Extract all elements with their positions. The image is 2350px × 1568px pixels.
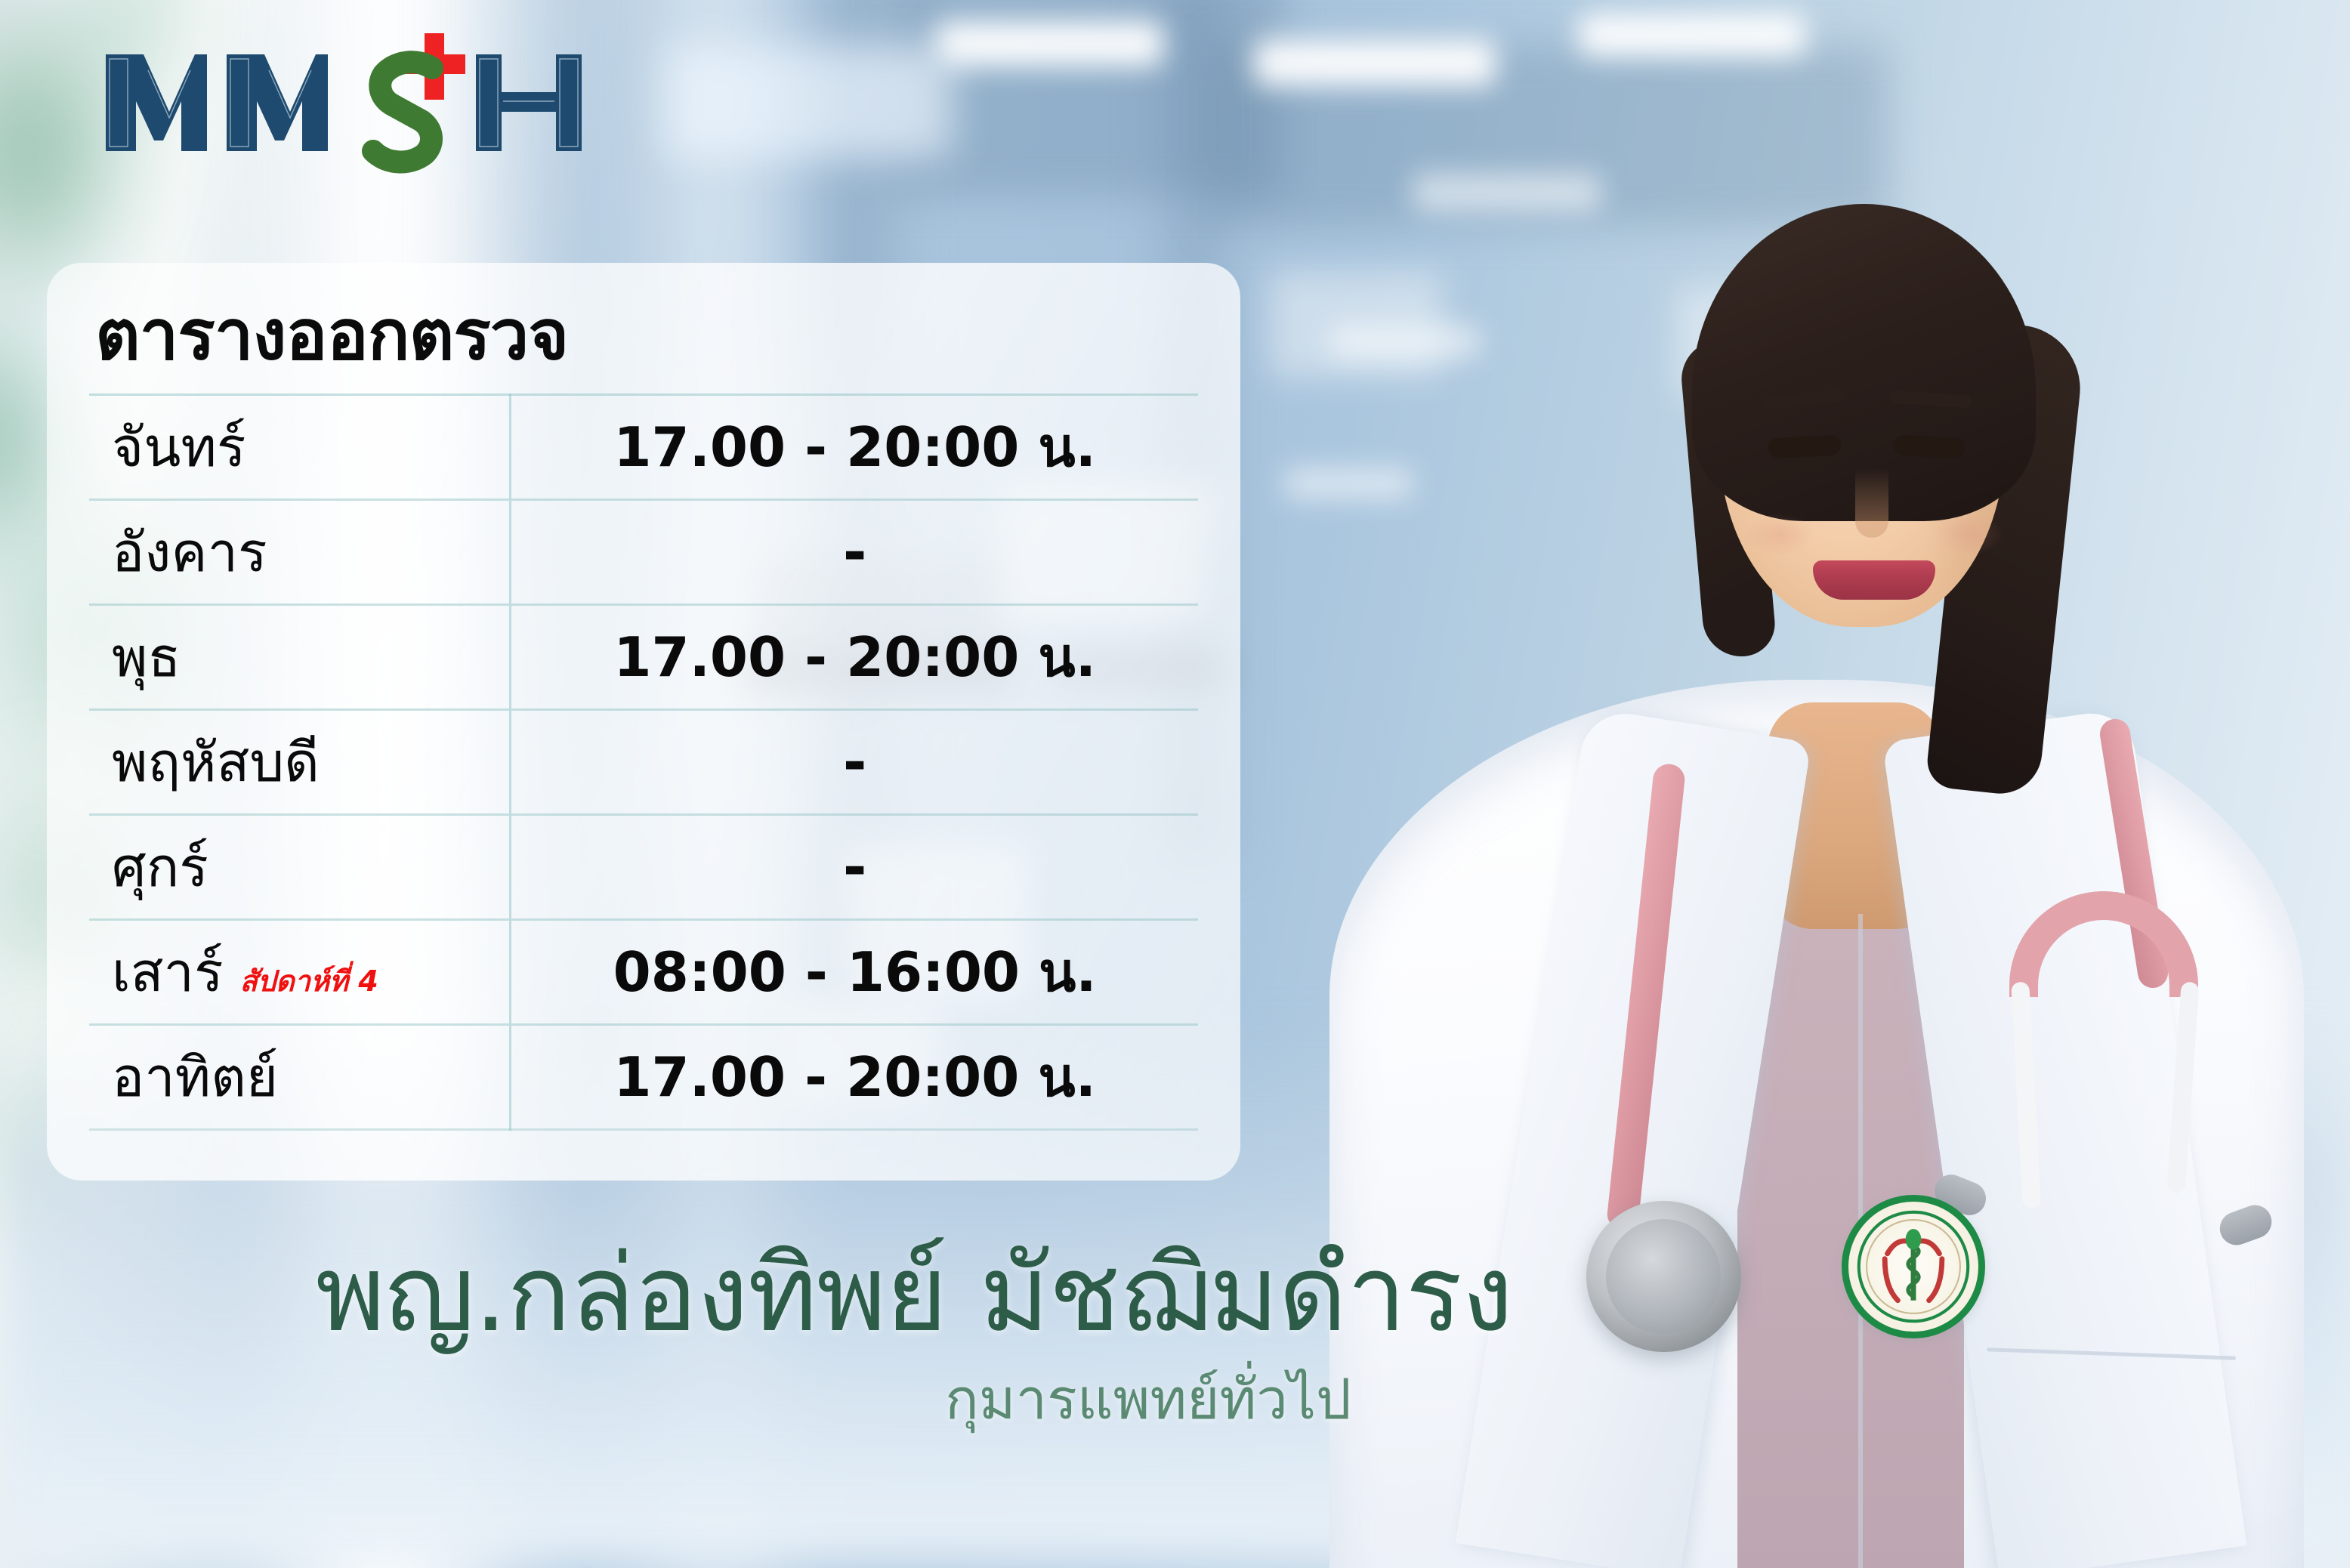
day-cell: อังคาร (89, 500, 511, 605)
table-row[interactable]: พฤหัสบดี - (89, 710, 1198, 815)
time-label: 17.00 - 20:00 น. (613, 1045, 1096, 1109)
day-cell: พฤหัสบดี (89, 710, 511, 815)
eye-right (1892, 435, 1966, 459)
day-cell: เสาร์ สัปดาห์ที่ 4 (89, 920, 511, 1025)
time-cell: - (511, 710, 1198, 815)
time-label: - (843, 518, 867, 585)
day-label: เสาร์ (112, 945, 224, 999)
eye-left (1768, 435, 1841, 459)
logo-letter-m1 (106, 54, 207, 151)
doctor-name: พญ.กล่องทิพย์ มัชฌิมดำรง (0, 1239, 1828, 1350)
day-label: ศุกร์ (112, 840, 208, 894)
nose (1855, 468, 1888, 538)
schedule-table: จันทร์ 17.00 - 20:00 น. อังคาร (89, 394, 1198, 1131)
medical-emblem-icon (1842, 1195, 1985, 1338)
day-label: จันทร์ (112, 420, 246, 474)
day-label: พฤหัสบดี (112, 735, 320, 789)
time-label: - (843, 833, 867, 900)
time-cell: 17.00 - 20:00 น. (511, 605, 1198, 710)
ceiling-light-icon (937, 21, 1163, 66)
logo-letter-m2 (227, 54, 328, 151)
time-cell: 08:00 - 16:00 น. (511, 920, 1198, 1025)
table-row[interactable]: ศุกร์ - (89, 815, 1198, 920)
time-label: - (843, 728, 867, 795)
time-cell: - (511, 500, 1198, 605)
doctor-name-block: พญ.กล่องทิพย์ มัชฌิมดำรง กุมารแพทย์ทั่วไ… (0, 1239, 1828, 1431)
table-row[interactable]: จันทร์ 17.00 - 20:00 น. (89, 395, 1198, 500)
time-label: 08:00 - 16:00 น. (613, 940, 1097, 1004)
day-note: สัปดาห์ที่ 4 (240, 967, 378, 995)
logo-letter-h (476, 54, 582, 151)
table-row[interactable]: พุธ 17.00 - 20:00 น. (89, 605, 1198, 710)
window-glow (665, 45, 952, 159)
mouth (1813, 560, 1935, 600)
time-label: 17.00 - 20:00 น. (613, 415, 1096, 479)
card-title: ตารางออกตรวจ (89, 296, 1198, 394)
day-label: อังคาร (112, 525, 267, 579)
day-cell: อาทิตย์ (89, 1025, 511, 1130)
table-row[interactable]: อังคาร - (89, 500, 1198, 605)
time-cell: 17.00 - 20:00 น. (511, 395, 1198, 500)
day-label: อาทิตย์ (112, 1050, 278, 1104)
time-label: 17.00 - 20:00 น. (613, 625, 1096, 689)
cheek-right (1935, 514, 2003, 555)
cheek-left (1746, 514, 1814, 555)
day-cell: ศุกร์ (89, 815, 511, 920)
doctor-specialty: กุมารแพทย์ทั่วไป (0, 1369, 1828, 1431)
time-cell: 17.00 - 20:00 น. (511, 1025, 1198, 1130)
logo-letter-s (373, 62, 432, 162)
schedule-poster: ตารางออกตรวจ จันทร์ 17.00 - 20:00 น. (0, 0, 2350, 1568)
day-cell: พุธ (89, 605, 511, 710)
time-cell: - (511, 815, 1198, 920)
table-row[interactable]: อาทิตย์ 17.00 - 20:00 น. (89, 1025, 1198, 1130)
day-label: พุธ (112, 630, 181, 684)
day-cell: จันทร์ (89, 395, 511, 500)
mmsh-logo[interactable] (83, 29, 612, 195)
schedule-card: ตารางออกตรวจ จันทร์ 17.00 - 20:00 น. (47, 263, 1240, 1181)
table-row[interactable]: เสาร์ สัปดาห์ที่ 4 08:00 - 16:00 น. (89, 920, 1198, 1025)
